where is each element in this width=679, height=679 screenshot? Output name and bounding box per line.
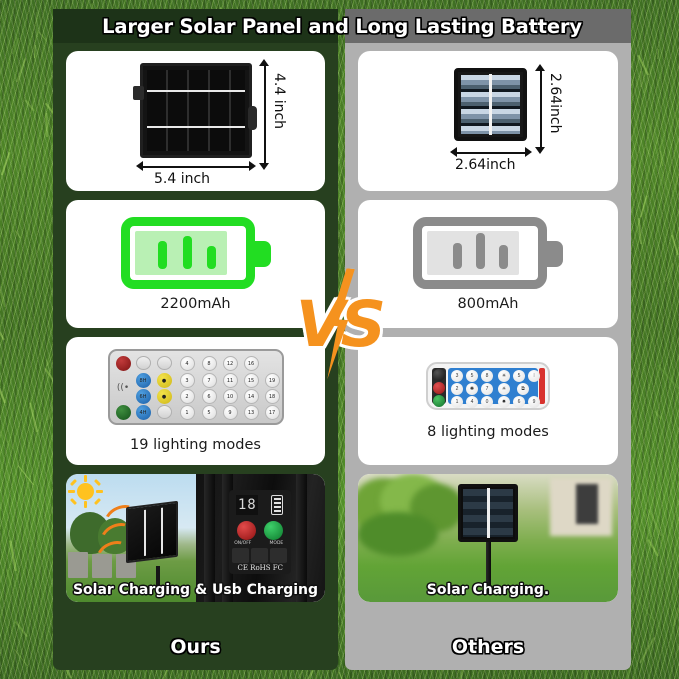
card-others-remote: 3 5 8 ✳ 5 ⦙ 2 ✺ 7 ☀ ⧉ 1 4 0 ✸ 6 9 8 ligh…	[358, 337, 618, 465]
certification-marks: CE RoHS FC	[229, 564, 291, 572]
solar-panel-photo-icon	[126, 501, 178, 563]
charging-caption: Solar Charging & Usb Charging	[66, 582, 325, 598]
power-button[interactable]	[237, 521, 256, 540]
solar-panel-icon	[454, 68, 527, 141]
comparison-column-ours: 5.4 inch 4.4 inch 2200mAh	[53, 9, 338, 670]
battery-level-icon	[271, 495, 283, 515]
footer-label-ours: Ours	[53, 636, 338, 658]
footer-label-others: Others	[345, 636, 631, 658]
brightness-key[interactable]	[232, 548, 249, 563]
width-dimension-line	[142, 166, 250, 168]
panel-width-label: 5.4 inch	[154, 171, 210, 187]
remote-modes-label: 8 lighting modes	[427, 424, 549, 440]
card-others-battery: 800mAh	[358, 200, 618, 328]
card-ours-charging-photos: 18 ON/OFF MODE CE RoHS FC	[66, 474, 325, 602]
comparison-column-others: 2.64inch 2.64inch 800mAh	[345, 9, 631, 670]
battery-capacity-label: 800mAh	[458, 296, 519, 312]
card-ours-solar-panel: 5.4 inch 4.4 inch	[66, 51, 325, 191]
solar-panel-photo-icon	[458, 484, 518, 542]
battery-icon	[413, 217, 563, 289]
remote-control-icon: 3 5 8 ✳ 5 ⦙ 2 ✺ 7 ☀ ⧉ 1 4 0 ✸ 6 9	[426, 362, 550, 410]
solar-panel-icon	[140, 63, 252, 158]
power-mini-button[interactable]	[433, 369, 445, 381]
power-button-label: ON/OFF	[234, 541, 251, 546]
infographic-root: 5.4 inch 4.4 inch 2200mAh	[0, 0, 679, 679]
card-others-solar-panel: 2.64inch 2.64inch	[358, 51, 618, 191]
mode-button-label: MODE	[270, 541, 284, 546]
mode-button[interactable]	[264, 521, 283, 540]
card-ours-remote: ((• 8H 6H 4H ● ● 4 3 2 1 8 7 6 5 12 11	[66, 337, 325, 465]
dim-key[interactable]	[251, 548, 268, 563]
panel-height-label: 2.64inch	[547, 73, 563, 134]
battery-icon	[121, 217, 271, 289]
green-mini-button[interactable]	[433, 395, 445, 407]
digital-display: 18	[236, 495, 258, 515]
remote-control-icon: ((• 8H 6H 4H ● ● 4 3 2 1 8 7 6 5 12 11	[108, 349, 284, 425]
red-mini-button[interactable]	[433, 382, 445, 394]
height-dimension-line	[264, 65, 266, 165]
panel-height-label: 4.4 inch	[271, 73, 287, 129]
remote-modes-label: 19 lighting modes	[130, 437, 261, 453]
sun-icon	[77, 483, 94, 500]
card-ours-battery: 2200mAh	[66, 200, 325, 328]
card-others-charging-photo: Solar Charging.	[358, 474, 618, 602]
charging-caption: Solar Charging.	[358, 582, 618, 598]
touch-key[interactable]	[270, 548, 287, 563]
battery-capacity-label: 2200mAh	[160, 296, 230, 312]
panel-width-label: 2.64inch	[455, 157, 516, 173]
